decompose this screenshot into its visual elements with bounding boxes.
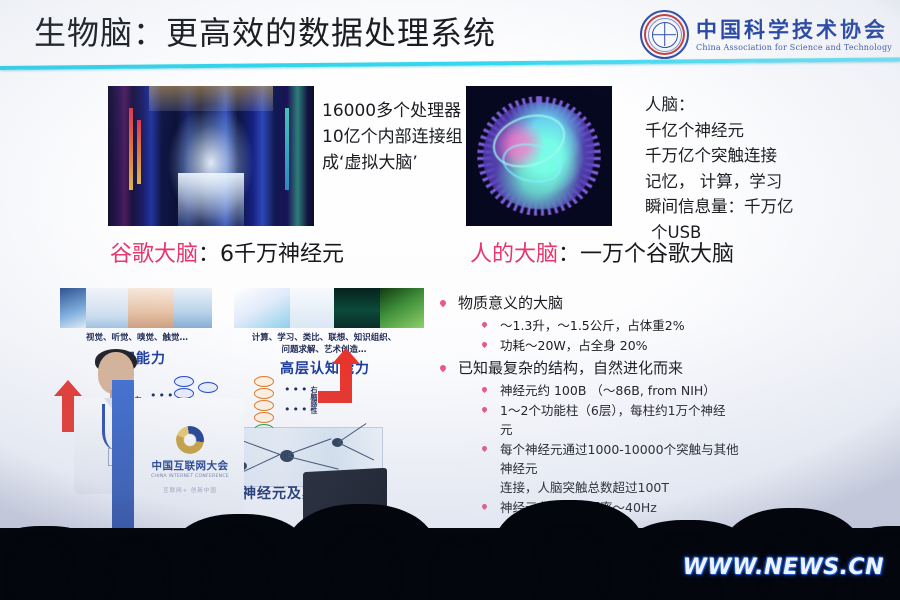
right-brain-vertical-label: 右脑感性	[310, 386, 320, 414]
bullet-marker-icon	[481, 341, 488, 348]
human-brain-caption-line-3: 千万亿个突触连接	[645, 143, 895, 169]
conference-logo-cn: 中国互联网大会	[142, 458, 238, 473]
brain-scan-photo	[466, 86, 612, 226]
confidence-monitor	[303, 468, 387, 528]
bullet-marker-icon	[439, 299, 447, 307]
title-divider-rule	[0, 57, 900, 70]
bullet-item: 每个神经元通过1000-10000个突触与其他	[432, 440, 884, 459]
bullet-text: 每个神经元通过1000-10000个突触与其他	[500, 440, 739, 459]
bullet-text: 已知最复杂的结构，自然进化而来	[458, 357, 683, 380]
bullet-item: 功耗～20W，占全身 20%	[432, 336, 884, 355]
google-brain-label: 谷歌大脑	[110, 242, 198, 267]
bullet-continuation: 元	[432, 420, 884, 439]
human-brain-caption-line-4: 记忆， 计算，学习	[645, 169, 895, 195]
comparison-row: 谷歌大脑：6千万神经元 人的大脑：一万个谷歌大脑	[0, 240, 900, 274]
perception-modalities-label: 视觉、听觉、嗅觉、触觉…	[42, 332, 232, 344]
bullet-text: 物质意义的大脑	[458, 292, 563, 315]
human-brain-sep: ：	[558, 242, 580, 267]
brain-facts-bullet-list: 物质意义的大脑 ～1.3升，～1.5公斤，占体重2% 功耗～20W，占全身 20…	[432, 290, 884, 517]
google-brain-caption: 谷歌大脑：6千万神经元	[110, 240, 344, 270]
datacenter-caption-line-2: 10亿个内部连接组	[322, 124, 472, 150]
bullet-text: 1～2个功能柱（6层），每柱约1万个神经	[500, 401, 726, 420]
bullet-item: 神经元典型发放频率～40Hz	[432, 498, 884, 517]
projected-slide: 生物脑：更高效的数据处理系统 中国科学技术协会 China Associatio…	[0, 0, 900, 528]
human-brain-caption: 人脑： 千亿个神经元 千万亿个突触连接 记忆， 计算，学习 瞬间信息量：千万亿 …	[645, 92, 895, 245]
bullet-item: 1～2个功能柱（6层），每柱约1万个神经	[432, 401, 884, 420]
bullet-continuation: 神经元	[432, 459, 884, 478]
bullet-text: 神经元典型发放频率～40Hz	[500, 498, 657, 517]
cast-logo-en: China Association for Science and Techno…	[696, 43, 892, 52]
cognition-image-strip	[234, 288, 424, 328]
perception-image-strip	[60, 288, 212, 328]
cast-logo-cn: 中国科学技术协会	[696, 17, 892, 42]
slide-title: 生物脑：更高效的数据处理系统	[34, 12, 496, 54]
human-brain-comparison-caption: 人的大脑：一万个谷歌大脑	[470, 240, 734, 270]
bullet-item: ～1.3升，～1.5公斤，占体重2%	[432, 316, 884, 335]
cognition-up-arrow-icon	[318, 348, 368, 412]
bullet-text: ～1.3升，～1.5公斤，占体重2%	[500, 316, 685, 335]
podium: 中国互联网大会 CHINA INTERNET CONFERENCE 互联网+ 创…	[112, 398, 244, 528]
conference-logo-mark-icon	[176, 426, 204, 454]
bullet-item: 神经元约 100B （～86B, from NIH）	[432, 381, 884, 400]
human-brain-value: 一万个谷歌大脑	[580, 242, 734, 267]
human-brain-caption-line-5: 瞬间信息量：千万亿	[645, 194, 895, 220]
google-brain-sep: ：	[198, 242, 220, 267]
conference-logo-en: CHINA INTERNET CONFERENCE	[142, 474, 238, 479]
news-watermark: WWW.NEWS.CN	[683, 555, 884, 580]
bullet-text: 神经元约 100B （～86B, from NIH）	[500, 381, 716, 400]
conference-logo: 中国互联网大会 CHINA INTERNET CONFERENCE 互联网+ 创…	[142, 426, 238, 494]
bullet-marker-icon	[481, 406, 488, 413]
human-brain-caption-line-1: 人脑：	[645, 92, 895, 118]
datacenter-caption-line-3: 成‘虚拟大脑’	[322, 150, 472, 176]
bullet-marker-icon	[481, 445, 488, 452]
cast-globe-emblem-icon	[640, 10, 689, 59]
datacenter-photo	[108, 86, 314, 226]
photo-of-conference-presentation: 生物脑：更高效的数据处理系统 中国科学技术协会 China Associatio…	[0, 0, 900, 600]
bullet-marker-icon	[481, 386, 488, 393]
datacenter-caption-line-1: 16000多个处理器	[322, 98, 472, 124]
cognition-functions-label-1: 计算、学习、类比、联想、知识组织、	[218, 332, 430, 344]
cast-logo: 中国科学技术协会 China Association for Science a…	[640, 10, 892, 59]
bullet-marker-icon	[481, 321, 488, 328]
bullet-item: 物质意义的大脑	[432, 292, 884, 315]
conference-logo-tagline: 互联网+ 创新中国	[142, 486, 238, 494]
human-brain-caption-line-2: 千亿个神经元	[645, 118, 895, 144]
bullet-marker-icon	[439, 364, 447, 372]
datacenter-caption: 16000多个处理器 10亿个内部连接组 成‘虚拟大脑’	[322, 98, 472, 176]
bullet-continuation: 连接，人脑突触总数超过100T	[432, 478, 884, 497]
bullet-text: 功耗～20W，占全身 20%	[500, 336, 648, 355]
google-brain-value: 6千万神经元	[220, 242, 344, 267]
human-brain-label: 人的大脑	[470, 242, 558, 267]
bullet-item: 已知最复杂的结构，自然进化而来	[432, 357, 884, 380]
bullet-marker-icon	[481, 503, 488, 510]
